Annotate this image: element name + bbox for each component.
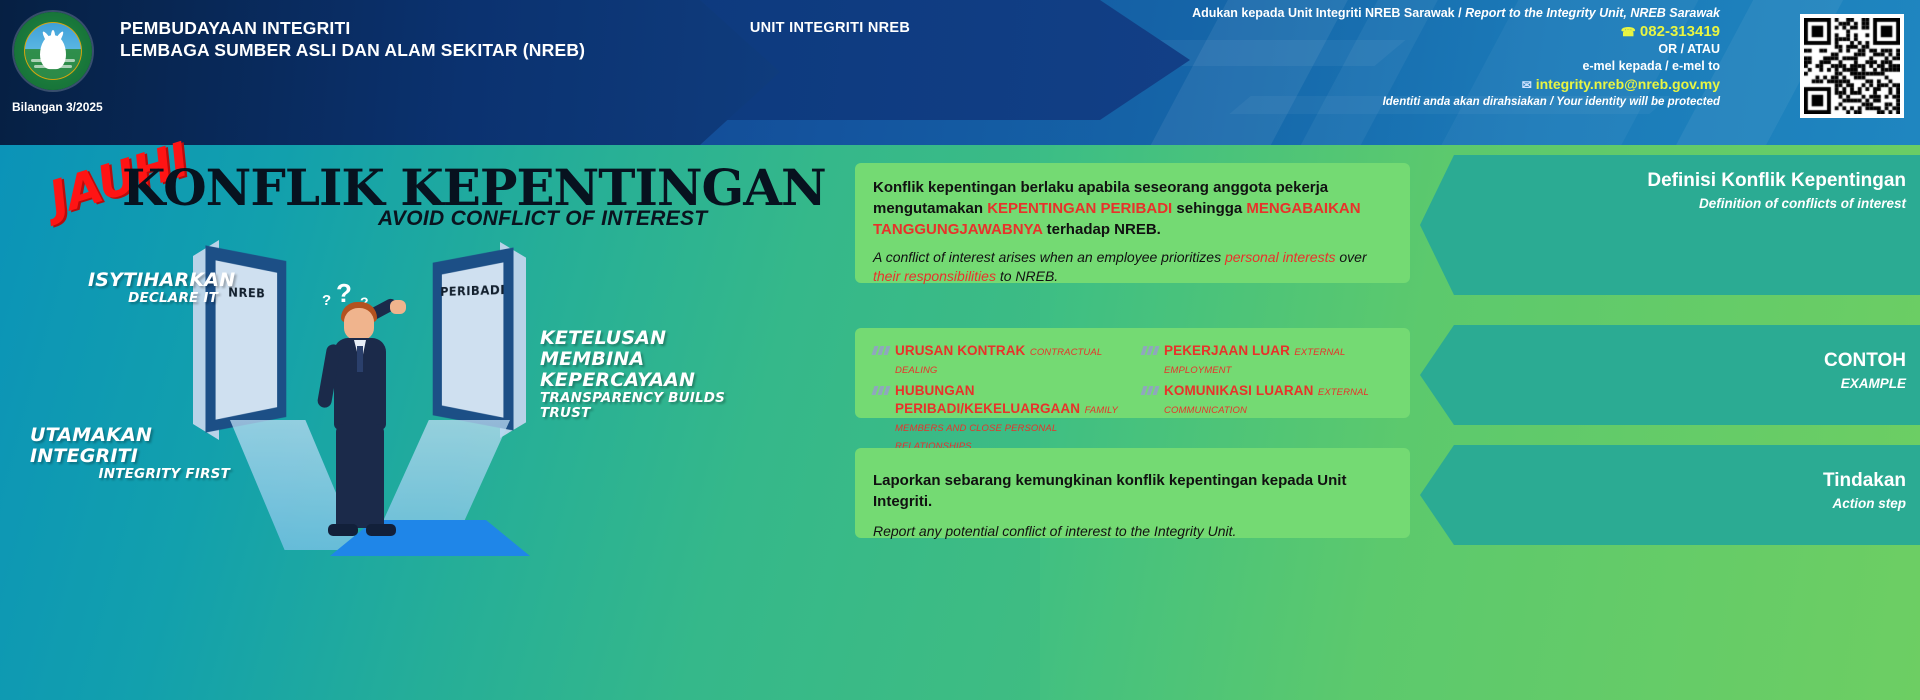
qr-code-icon[interactable]: [1800, 14, 1904, 118]
tab-definition-ms: Definisi Konflik Kepentingan: [1420, 169, 1906, 192]
door-peribadi-label: PERIBADI: [433, 282, 514, 299]
slogan-transparency-en: TRANSPARENCY BUILDS TRUST: [540, 391, 770, 421]
action-en: Report any potential conflict of interes…: [873, 522, 1394, 541]
report-en: Report to the Integrity Unit, NREB Saraw…: [1465, 6, 1720, 20]
action-ms: Laporkan sebarang kemungkinan konflik ke…: [873, 470, 1394, 512]
card-definition: Konflik kepentingan berlaku apabila sese…: [855, 163, 1410, 283]
phone-number: 082-313419: [1640, 23, 1720, 40]
tab-example-ms: CONTOH: [1420, 349, 1906, 372]
definition-ms-highlight1: KEPENTINGAN PERIBADI: [987, 200, 1172, 217]
slogan-integrity-en: INTEGRITY FIRST: [30, 467, 230, 482]
example-ms: PEKERJAAN LUAR: [1164, 343, 1290, 358]
example-ms: HUBUNGAN PERIBADI/KEKELUARGAAN: [895, 383, 1080, 416]
definition-en-highlight2: their responsibilities: [873, 268, 996, 284]
tab-definition-en: Definition of conflicts of interest: [1420, 195, 1906, 212]
definition-en-part2: over: [1336, 249, 1367, 265]
card-action: Laporkan sebarang kemungkinan konflik ke…: [855, 448, 1410, 538]
organisation-title: PEMBUDAYAAN INTEGRITI LEMBAGA SUMBER ASL…: [120, 17, 585, 61]
definition-ms-part2: sehingga: [1172, 200, 1246, 217]
identity-protected-note: Identiti anda akan dirahsiakan / Your id…: [1080, 95, 1720, 109]
examples-grid: URUSAN KONTRAK CONTRACTUAL DEALING PEKER…: [873, 342, 1393, 456]
email-line[interactable]: ✉ integrity.nreb@nreb.gov.my: [1080, 76, 1720, 94]
tab-example: CONTOH EXAMPLE: [1420, 325, 1920, 425]
page-header: PEMBUDAYAAN INTEGRITI LEMBAGA SUMBER ASL…: [0, 0, 1920, 145]
definition-en-part1: A conflict of interest arises when an em…: [873, 249, 1225, 265]
page-subtitle: AVOID CONFLICT OF INTEREST: [378, 207, 707, 231]
org-line-2: LEMBAGA SUMBER ASLI DAN ALAM SEKITAR (NR…: [120, 39, 585, 61]
example-item: KOMUNIKASI LUARAN EXTERNAL COMMUNICATION: [1142, 382, 1393, 454]
phone-icon: ☎: [1621, 25, 1636, 39]
slogan-declare-en: DECLARE IT: [88, 291, 218, 306]
definition-en-part3: to NREB.: [996, 268, 1058, 284]
org-line-1: PEMBUDAYAAN INTEGRITI: [120, 17, 585, 39]
phone-line[interactable]: ☎ 082-313419: [1080, 23, 1720, 42]
tab-action-ms: Tindakan: [1420, 469, 1906, 492]
example-item: HUBUNGAN PERIBADI/KEKELUARGAAN FAMILY ME…: [873, 382, 1124, 454]
definition-ms: Konflik kepentingan berlaku apabila sese…: [873, 177, 1394, 240]
definition-en-highlight1: personal interests: [1225, 249, 1336, 265]
tab-action-en: Action step: [1420, 495, 1906, 512]
issue-number: Bilangan 3/2025: [12, 100, 103, 114]
definition-en: A conflict of interest arises when an em…: [873, 248, 1394, 286]
slogan-integrity-ms: UTAMAKAN INTEGRITI: [30, 425, 230, 467]
card-examples: URUSAN KONTRAK CONTRACTUAL DEALING PEKER…: [855, 328, 1410, 418]
unit-badge: UNIT INTEGRITI NREB: [700, 20, 960, 36]
example-ms: URUSAN KONTRAK: [895, 343, 1025, 358]
slogan-declare-ms: ISYTIHARKAN: [88, 270, 218, 291]
envelope-icon: ✉: [1522, 78, 1532, 92]
definition-ms-part3: terhadap NREB.: [1042, 221, 1160, 238]
confused-man-illustration: [310, 290, 420, 540]
or-label: OR / ATAU: [1080, 42, 1720, 58]
chevron-bullet-icon: [873, 386, 889, 395]
door-peribadi: PERIBADI: [433, 247, 514, 430]
contact-block: Adukan kepada Unit Integriti NREB Sarawa…: [1080, 6, 1720, 110]
example-item: PEKERJAAN LUAR EXTERNAL EMPLOYMENT: [1142, 342, 1393, 378]
chevron-bullet-icon: [1142, 346, 1158, 355]
email-label: e-mel kepada / e-mel to: [1080, 59, 1720, 75]
slogan-transparency: KETELUSAN MEMBINA KEPERCAYAAN TRANSPAREN…: [540, 328, 770, 421]
nreb-logo-icon: [14, 12, 92, 90]
example-ms: KOMUNIKASI LUARAN: [1164, 383, 1313, 398]
example-item: URUSAN KONTRAK CONTRACTUAL DEALING: [873, 342, 1124, 378]
report-ms: Adukan kepada Unit Integriti NREB Sarawa…: [1192, 6, 1455, 20]
slogan-transparency-ms: KETELUSAN MEMBINA KEPERCAYAAN: [540, 328, 770, 391]
tab-action: Tindakan Action step: [1420, 445, 1920, 545]
tab-definition: Definisi Konflik Kepentingan Definition …: [1420, 155, 1920, 295]
slogan-declare: ISYTIHARKAN DECLARE IT: [88, 270, 218, 306]
report-line: Adukan kepada Unit Integriti NREB Sarawa…: [1080, 6, 1720, 22]
infographic-poster: PEMBUDAYAAN INTEGRITI LEMBAGA SUMBER ASL…: [0, 0, 1920, 700]
slogan-integrity: UTAMAKAN INTEGRITI INTEGRITY FIRST: [30, 425, 230, 482]
email-address: integrity.nreb@nreb.gov.my: [1536, 76, 1720, 92]
chevron-bullet-icon: [1142, 386, 1158, 395]
report-separator: /: [1458, 6, 1461, 20]
tab-example-en: EXAMPLE: [1420, 375, 1906, 392]
chevron-bullet-icon: [873, 346, 889, 355]
